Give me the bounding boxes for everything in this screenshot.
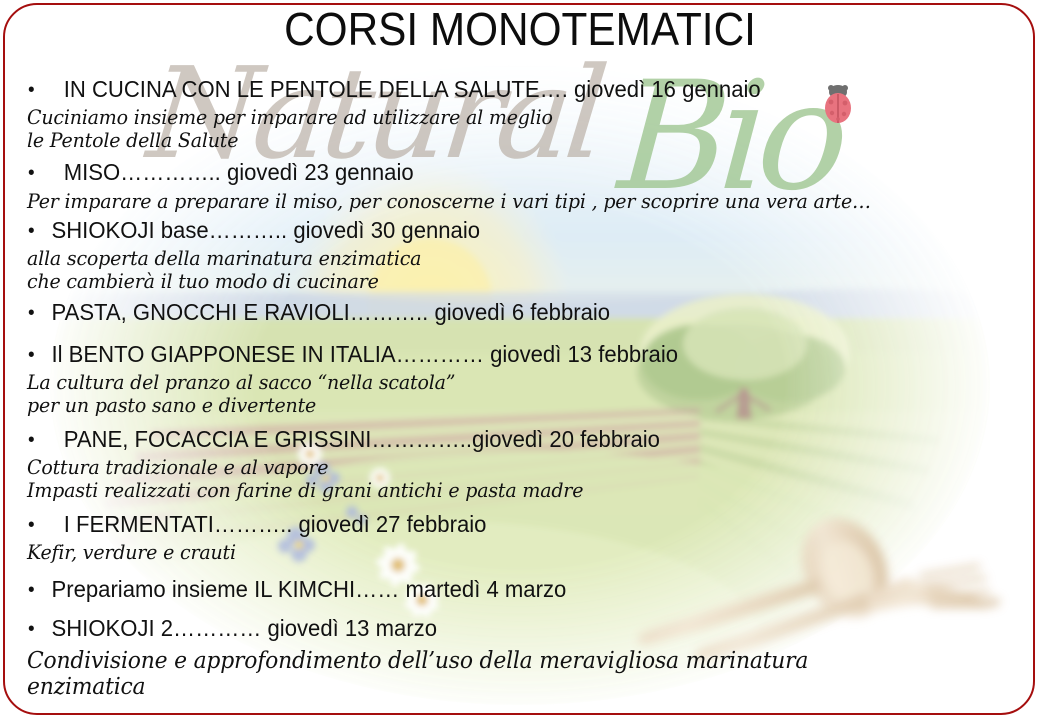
course-desc-5-1: Impasti realizzati con farine di grani a… xyxy=(27,478,583,502)
course-desc-1-0: Per imparare a preparare il miso, per co… xyxy=(27,189,871,213)
course-heading-text-7: Prepariamo insieme IL KIMCHI…… martedì 4… xyxy=(52,576,567,602)
course-heading-text-3: PASTA, GNOCCHI E RAVIOLI……….. giovedì 6 … xyxy=(52,299,611,325)
course-desc-6-0: Kefir, verdure e crauti xyxy=(27,540,236,564)
course-heading-text-5: PANE, FOCACCIA E GRISSINI…………..giovedì 2… xyxy=(64,426,660,452)
bullet-icon-2: • xyxy=(28,220,41,243)
course-desc-2-0: alla scoperta della marinatura enzimatic… xyxy=(27,246,421,270)
course-heading-text-8: SHIOKOJI 2………… giovedì 13 marzo xyxy=(52,615,437,641)
course-heading-3: •PASTA, GNOCCHI E RAVIOLI……….. giovedì 6… xyxy=(28,299,610,326)
course-heading-5: •PANE, FOCACCIA E GRISSINI…………..giovedì … xyxy=(28,426,660,453)
bullet-icon-5: • xyxy=(28,429,41,452)
course-desc-0-0: Cuciniamo insieme per imparare ad utiliz… xyxy=(27,105,553,129)
course-heading-4: •Il BENTO GIAPPONESE IN ITALIA………… giove… xyxy=(28,341,678,368)
course-desc-4-0: La cultura del pranzo al sacco “nella sc… xyxy=(27,370,455,394)
course-desc-5-0: Cottura tradizionale e al vapore xyxy=(27,455,328,479)
bullet-icon-8: • xyxy=(28,618,41,641)
bullet-icon-1: • xyxy=(28,162,41,185)
bullet-icon-6: • xyxy=(28,514,41,537)
course-heading-text-0: IN CUCINA CON LE PENTOLE DELLA SALUTE…. … xyxy=(64,76,761,102)
course-heading-1: •MISO………….. giovedì 23 gennaio xyxy=(28,159,414,186)
course-heading-7: •Prepariamo insieme IL KIMCHI…… martedì … xyxy=(28,576,566,603)
bullet-icon-4: • xyxy=(28,344,41,367)
page-title: CORSI MONOTEMATICI xyxy=(42,2,999,56)
course-heading-text-6: I FERMENTATI……….. giovedì 27 febbraio xyxy=(64,511,487,537)
course-heading-8: •SHIOKOJI 2………… giovedì 13 marzo xyxy=(28,615,437,642)
course-desc-4-1: per un pasto sano e divertente xyxy=(27,393,316,417)
slide-canvas: Natural Bio CORSI MONOTEMATICI •IN CUCIN… xyxy=(0,0,1040,720)
course-heading-6: •I FERMENTATI……….. giovedì 27 febbraio xyxy=(28,511,486,538)
course-desc-8-1: enzimatica xyxy=(27,674,145,700)
course-desc-2-1: che cambierà il tuo modo di cucinare xyxy=(27,269,379,293)
bullet-icon-3: • xyxy=(28,302,41,325)
course-heading-2: •SHIOKOJI base……….. giovedì 30 gennaio xyxy=(28,217,480,244)
bullet-icon-7: • xyxy=(28,579,41,602)
slide-content: CORSI MONOTEMATICI •IN CUCINA CON LE PEN… xyxy=(0,0,1040,720)
course-heading-text-2: SHIOKOJI base……….. giovedì 30 gennaio xyxy=(52,217,481,243)
course-heading-text-1: MISO………….. giovedì 23 gennaio xyxy=(64,159,414,185)
course-desc-0-1: le Pentole della Salute xyxy=(27,128,238,152)
course-heading-0: •IN CUCINA CON LE PENTOLE DELLA SALUTE….… xyxy=(28,76,761,103)
bullet-icon-0: • xyxy=(28,79,41,102)
course-desc-8-0: Condivisione e approfondimento dell’uso … xyxy=(27,648,808,674)
course-heading-text-4: Il BENTO GIAPPONESE IN ITALIA………… gioved… xyxy=(52,341,679,367)
